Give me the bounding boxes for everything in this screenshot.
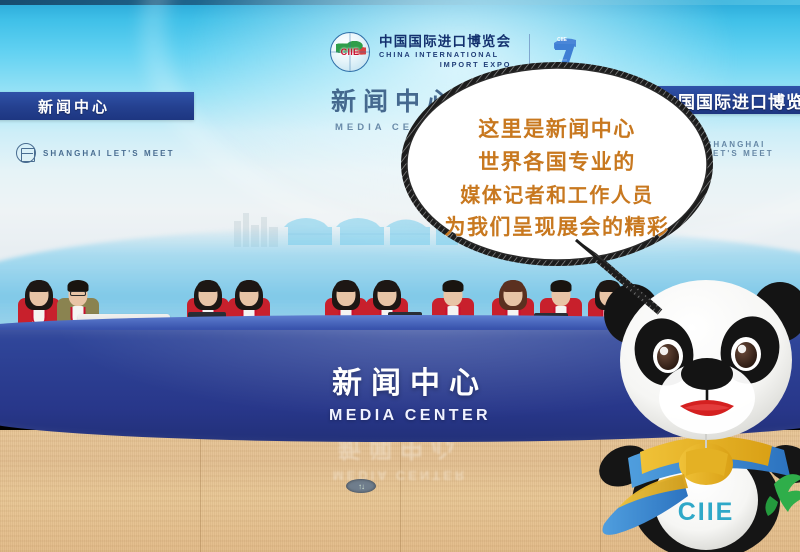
bubble-line-2: 世界各国专业的 [478,146,636,176]
staff-glasses-icon [70,291,86,296]
ciie-globe-icon: CIIE [330,32,370,72]
speech-bubble: 这里是新闻中心 世界各国专业的 媒体记者和工作人员 为我们呈现展会的精彩 [398,60,716,318]
mascot-belly-text: CIIE [678,498,735,526]
bubble-line-3: 媒体记者和工作人员 [460,179,654,208]
ciie-emblem-text: CIIE [331,47,369,57]
lets-meet-label-left: SHANGHAI LET'S MEET [43,149,175,158]
ribbon-left-label: 新闻中心 [38,96,110,117]
svg-text:CIIE: CIIE [557,37,567,43]
speech-bubble-text: 这里是新闻中心 世界各国专业的 媒体记者和工作人员 为我们呈现展会的精彩 [398,60,716,265]
ciie-name-cn: 中国国际进口博览会 [379,35,511,49]
staff-hair-top [336,280,357,292]
shanghai-lets-meet-left: SHANGHAI LET'S MEET [16,143,175,163]
floor-vent-marker: ↑↓ [346,479,376,493]
staff-hair-top [29,280,50,292]
shanghai-lets-meet-right: SHANGHAI LET'S MEET [706,140,800,158]
lets-meet-label-right: SHANGHAI LET'S MEET [706,140,800,158]
shanghai-seal-icon [16,143,36,163]
staff-hair-top [198,280,219,292]
ribbon-banner-left: 新闻中心 [0,92,194,120]
staff-hair-top [377,280,398,292]
screenshot-root: CIIE 中国国际进口博览会 CHINA INTERNATIONAL IMPOR… [0,0,800,552]
staff-hair-top [239,280,260,292]
floor-vent-label: ↑↓ [358,482,364,491]
ciie-name-en-line1: CHINA INTERNATIONAL [379,51,511,59]
bubble-line-1: 这里是新闻中心 [478,113,636,143]
bubble-line-4: 为我们呈现展会的精彩 [445,211,670,241]
